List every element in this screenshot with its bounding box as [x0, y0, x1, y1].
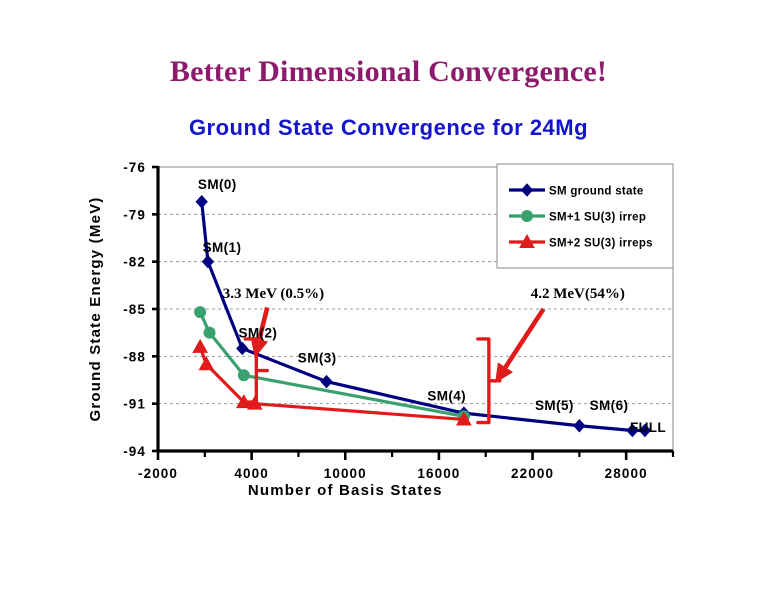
series-0-point-0	[196, 196, 207, 208]
callout-annotations: 3.3 MeV (0.5%)4.2 MeV(54%)	[223, 286, 625, 383]
y-axis-title: Ground State Energy (MeV)	[87, 196, 104, 421]
y-tick-label--85: -85	[123, 302, 146, 317]
series-0-point-3	[321, 376, 332, 388]
legend-label-1: SM+1 SU(3) irrep	[549, 212, 646, 224]
annotation-label-0: 3.3 MeV (0.5%)	[223, 286, 324, 302]
x-tick-label-16000: 16000	[417, 466, 460, 481]
point-label-sm0: SM(0)	[198, 177, 237, 192]
x-tick-label-10000: 10000	[324, 466, 367, 481]
series-0-point-5	[574, 420, 585, 432]
x-tick-label-4000: 4000	[234, 466, 268, 481]
point-label-full: FULL	[630, 420, 666, 435]
point-label-sm4: SM(4)	[427, 389, 466, 404]
annotation-label-1: 4.2 MeV(54%)	[531, 286, 625, 302]
series-0-point-1	[202, 256, 213, 268]
y-tick-label--79: -79	[123, 207, 146, 222]
point-label-sm1: SM(1)	[203, 240, 242, 255]
y-tick-label--88: -88	[123, 349, 146, 364]
series-2-point-0	[193, 340, 207, 353]
chart-legend[interactable]: SM ground stateSM+1 SU(3) irrepSM+2 SU(3…	[497, 164, 673, 268]
y-tick-label--91: -91	[123, 397, 146, 412]
point-label-sm2: SM(2)	[239, 325, 278, 340]
point-label-sm3: SM(3)	[298, 351, 337, 366]
series-1-point-2	[238, 370, 249, 381]
legend-label-2: SM+2 SU(3) irreps	[549, 238, 653, 250]
legend-label-0: SM ground state	[549, 186, 644, 198]
point-label-sm5: SM(5)	[535, 398, 574, 413]
x-tick-label-22000: 22000	[511, 466, 554, 481]
slide-root: Better Dimensional Convergence! Ground S…	[0, 0, 777, 600]
x-axis-title: Number of Basis States	[248, 482, 443, 499]
x-tick-label--2000: -2000	[138, 466, 178, 481]
y-tick-label--94: -94	[123, 444, 146, 459]
annotation-arrow-shaft-1	[505, 309, 543, 367]
y-tick-label--82: -82	[123, 255, 146, 270]
series-0-point-2	[237, 342, 248, 354]
point-label-sm6: SM(6)	[590, 398, 629, 413]
convergence-line-chart: -76-79-82-85-88-91-94-200040001000016000…	[0, 0, 777, 600]
series-2-point-1	[199, 357, 213, 370]
y-tick-label--76: -76	[123, 160, 146, 175]
series-1-point-1	[204, 327, 215, 338]
legend-marker-circle-1	[522, 211, 533, 222]
chart-container: -76-79-82-85-88-91-94-200040001000016000…	[0, 0, 777, 600]
series-1-point-0	[195, 307, 206, 318]
x-tick-label-28000: 28000	[605, 466, 648, 481]
